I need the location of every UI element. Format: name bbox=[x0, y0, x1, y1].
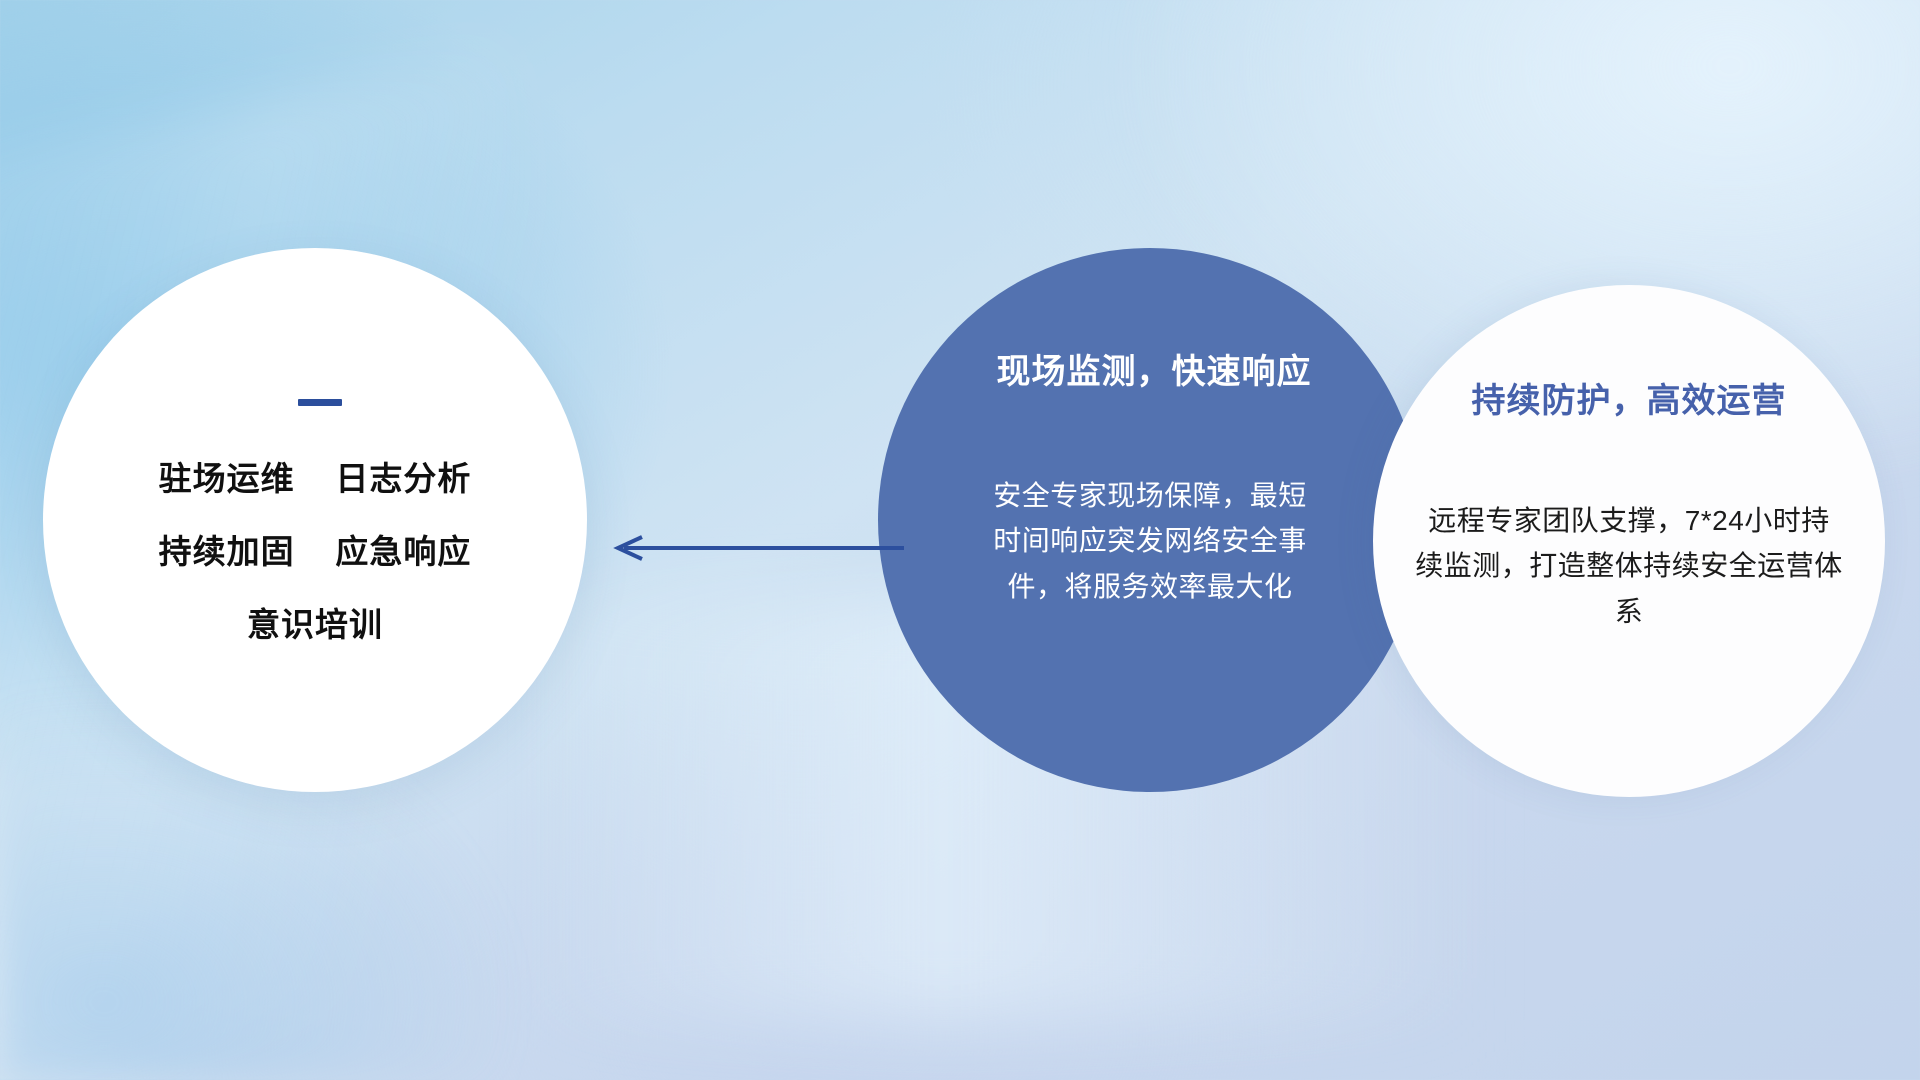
feature-title-onsite-monitoring: 现场监测，快速响应 bbox=[989, 344, 1312, 393]
feature-circle-onsite-monitoring[interactable]: 现场监测，快速响应 安全专家现场保障，最短时间响应突发网络安全事件，将服务效率最… bbox=[878, 248, 1422, 792]
capability-circle-onsite[interactable]: 驻场运维 日志分析 持续加固 应急响应 意识培训 bbox=[43, 248, 587, 792]
divider-dash-icon bbox=[298, 399, 342, 406]
flow-arrow-svg bbox=[608, 528, 908, 568]
feature-title-continuous-protection: 持续防护，高效运营 bbox=[1472, 373, 1787, 422]
capability-keyword-list: 驻场运维 日志分析 持续加固 应急响应 意识培训 bbox=[159, 462, 472, 641]
feature-body-onsite-monitoring: 安全专家现场保障，最短时间响应突发网络安全事件，将服务效率最大化 bbox=[985, 473, 1315, 609]
capability-keyword-row: 驻场运维 日志分析 bbox=[159, 462, 472, 495]
capability-keyword-row: 持续加固 应急响应 bbox=[159, 535, 472, 568]
flow-arrow-left-icon bbox=[608, 528, 908, 568]
feature-circle-continuous-protection[interactable]: 持续防护，高效运营 远程专家团队支撑，7*24小时持续监测，打造整体持续安全运营… bbox=[1373, 285, 1885, 797]
feature-body-continuous-protection: 远程专家团队支撑，7*24小时持续监测，打造整体持续安全运营体系 bbox=[1414, 498, 1844, 634]
capability-keyword-row: 意识培训 bbox=[159, 608, 472, 641]
